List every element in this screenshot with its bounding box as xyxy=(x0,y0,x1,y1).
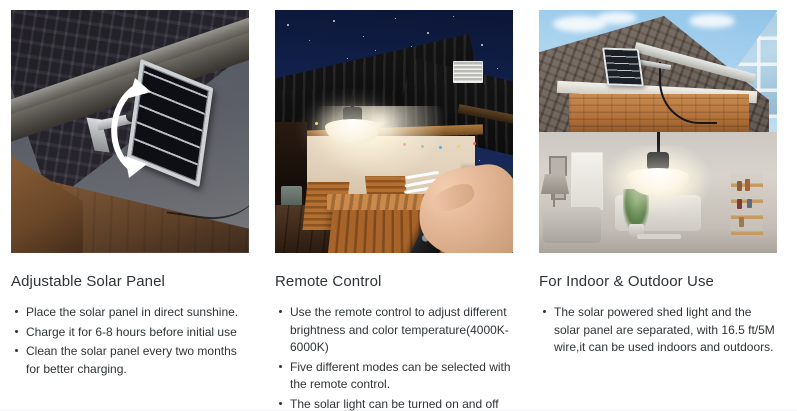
cloud xyxy=(689,14,735,28)
feature-list-adjustable-solar-panel: Place the solar panel in direct sunshine… xyxy=(11,304,249,378)
list-item: The solar light can be turned on and off… xyxy=(275,396,513,411)
feature-image-remote-control xyxy=(275,10,513,253)
outdoor-roof-scene xyxy=(539,10,777,132)
list-item: Use the remote control to adjust differe… xyxy=(275,304,513,357)
list-item: Five different modes can be selected wit… xyxy=(275,359,513,394)
cloud xyxy=(597,12,637,24)
wall-picture-frame xyxy=(549,156,567,176)
list-item: The solar powered shed light and the sol… xyxy=(539,304,777,357)
floor-lamp-shade xyxy=(541,174,569,194)
feature-list-indoor-outdoor: The solar powered shed light and the sol… xyxy=(539,304,777,357)
list-item: Clean the solar panel every two months f… xyxy=(11,343,249,378)
page-title-adjustable-solar-panel: Adjustable Solar Panel xyxy=(11,273,249,291)
pendant-rod xyxy=(657,132,660,154)
living-room-sofa-left xyxy=(543,207,601,243)
page-title-indoor-outdoor: For Indoor & Outdoor Use xyxy=(539,273,777,291)
list-item: Charge it for 6-8 hours before initial u… xyxy=(11,324,249,342)
feature-list-remote-control: Use the remote control to adjust differe… xyxy=(275,304,513,411)
product-feature-section: Adjustable Solar Panel Place the solar p… xyxy=(0,0,797,411)
solar-cells xyxy=(604,50,641,85)
bookshelf xyxy=(731,173,763,235)
indoor-living-room-scene xyxy=(539,132,777,253)
feature-column-adjustable-solar-panel: Adjustable Solar Panel Place the solar p… xyxy=(11,10,249,411)
feature-column-remote-control: Remote Control Use the remote control to… xyxy=(275,10,513,411)
page-title-remote-control: Remote Control xyxy=(275,273,513,291)
feature-columns: Adjustable Solar Panel Place the solar p… xyxy=(0,0,797,411)
roof-solar-panel xyxy=(602,48,644,87)
feature-image-adjustable-solar-panel xyxy=(11,10,249,253)
feature-image-indoor-outdoor xyxy=(539,10,777,253)
list-item: Place the solar panel in direct sunshine… xyxy=(11,304,249,322)
wall-vent xyxy=(453,61,483,83)
coffee-table xyxy=(637,234,681,239)
brick-wall xyxy=(569,94,749,132)
feature-column-indoor-outdoor: For Indoor & Outdoor Use The solar power… xyxy=(539,10,777,411)
